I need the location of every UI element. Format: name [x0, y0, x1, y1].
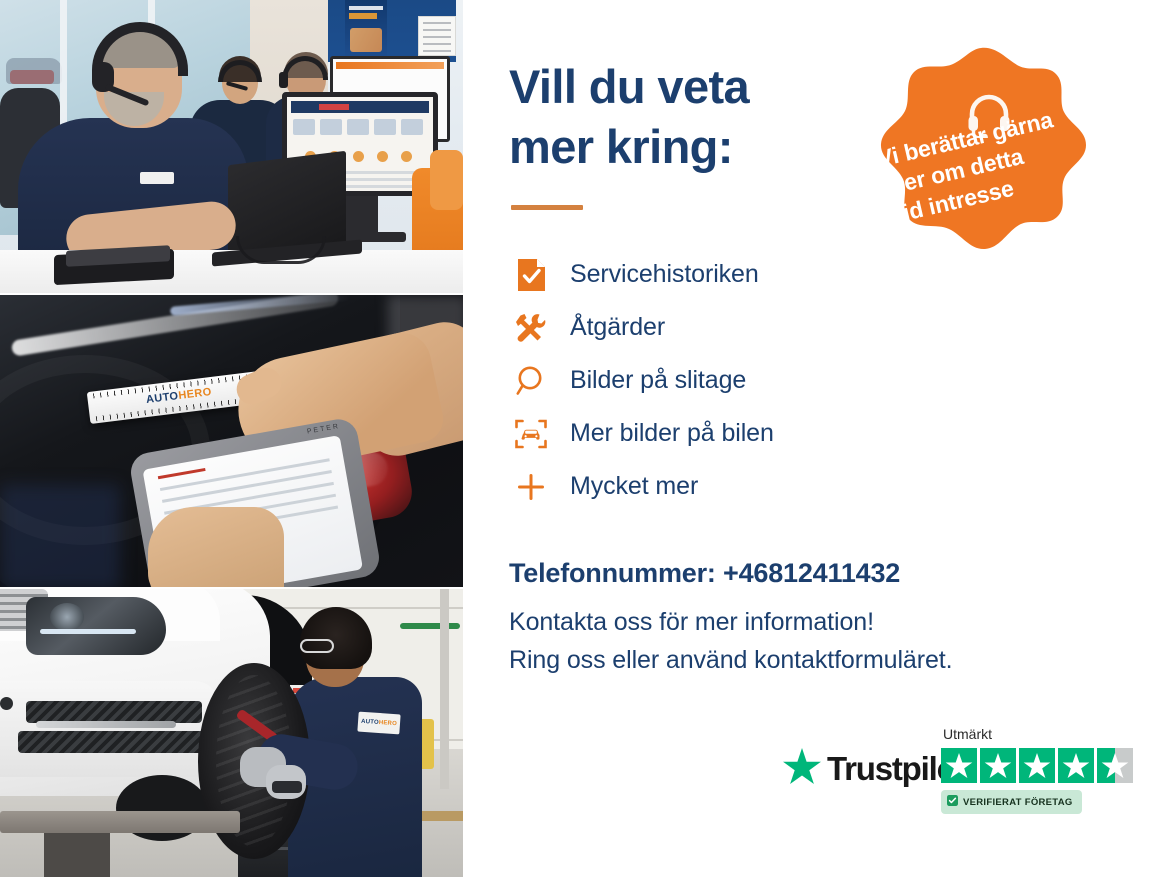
plus-icon — [509, 472, 553, 502]
list-item-label: Bilder på slitage — [553, 366, 746, 395]
page-title-line2: mer kring: — [509, 117, 749, 177]
magnifier-icon — [509, 365, 553, 396]
photo-column: AUTOHERO PETER — [0, 0, 463, 877]
phone-line: Telefonnummer: +46812411432 — [509, 558, 900, 589]
content-panel: Vill du veta mer kring: Servicehistorike… — [463, 0, 1170, 877]
star-filled — [941, 748, 977, 783]
contact-line-2: Ring oss eller använd kontaktformuläret. — [509, 641, 952, 679]
contact-text: Kontakta oss för mer information! Ring o… — [509, 603, 952, 679]
list-item: Mer bilder på bilen — [509, 407, 929, 460]
list-item-label: Servicehistoriken — [553, 260, 759, 289]
autohero-badge-hero: HERO — [379, 720, 398, 727]
star-filled — [1058, 748, 1094, 783]
star-filled — [980, 748, 1016, 783]
page-title-line1: Vill du veta — [509, 57, 749, 117]
car-inspection-ruler-tablet-photo: AUTOHERO PETER — [0, 295, 463, 587]
trustpilot-widget[interactable]: Trustpilot Utmärkt — [783, 726, 1133, 821]
wrench-screwdriver-icon — [509, 312, 553, 344]
callout-badge: Vi berättar gärna mer om detta vid intre… — [860, 44, 1102, 302]
autohero-logo-hero: HERO — [178, 386, 213, 402]
title-divider — [511, 205, 583, 210]
trustpilot-rating-label: Utmärkt — [943, 726, 992, 742]
page-title: Vill du veta mer kring: — [509, 57, 749, 177]
promo-page: AUTOHERO PETER — [0, 0, 1170, 877]
trustpilot-logo: Trustpilot — [783, 748, 965, 789]
autohero-badge-auto: AUTO — [361, 719, 379, 726]
verified-company-label: VERIFIERAT FÖRETAG — [963, 797, 1073, 808]
trustpilot-stars — [941, 748, 1133, 783]
phone-number[interactable]: +46812411432 — [723, 558, 900, 588]
autohero-logo-auto: AUTO — [145, 390, 179, 406]
list-item: Mycket mer — [509, 460, 929, 513]
list-item: Bilder på slitage — [509, 354, 929, 407]
list-item-label: Mycket mer — [553, 472, 698, 501]
list-item-label: Mer bilder på bilen — [553, 419, 774, 448]
list-item: Åtgärder — [509, 301, 929, 354]
star-half — [1097, 748, 1133, 783]
contact-line-1: Kontakta oss för mer information! — [509, 603, 952, 641]
phone-label: Telefonnummer: — [509, 558, 716, 588]
check-badge-icon — [947, 793, 958, 811]
star-filled — [1019, 748, 1055, 783]
call-center-agents-photo — [0, 0, 463, 293]
trustpilot-star-icon — [783, 748, 821, 789]
verified-company-badge: VERIFIERAT FÖRETAG — [941, 790, 1082, 814]
checklist-document-icon — [509, 259, 553, 291]
workshop-tyre-change-photo: AUTOHERO — [0, 589, 463, 877]
list-item-label: Åtgärder — [553, 313, 665, 342]
car-scan-frame-icon — [509, 418, 553, 450]
